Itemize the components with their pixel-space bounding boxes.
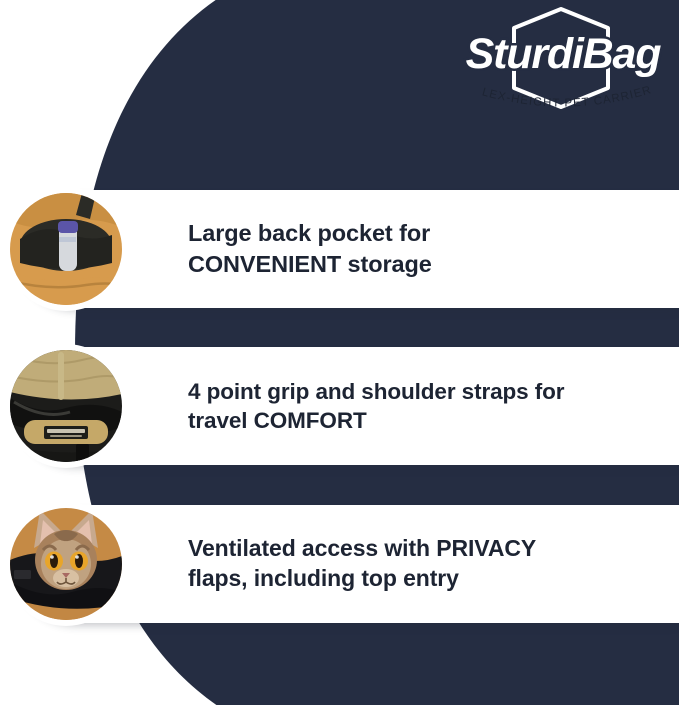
carrier-pocket-photo-icon xyxy=(10,193,122,305)
feature-card-straps: 4 point grip and shoulder straps for tra… xyxy=(16,347,679,465)
feature-image-straps xyxy=(10,350,122,462)
feature-thumbnail-wrapper xyxy=(4,344,128,468)
feature-text: Large back pocket for CONVENIENT storage xyxy=(188,218,440,279)
feature-text: 4 point grip and shoulder straps for tra… xyxy=(188,377,572,436)
feature-thumbnail-wrapper xyxy=(4,187,128,311)
feature-card-back-pocket: Large back pocket for CONVENIENT storage xyxy=(16,190,679,308)
feature-card-ventilation: Ventilated access with PRIVACY flaps, in… xyxy=(16,505,679,623)
cat-in-carrier-photo-icon xyxy=(10,508,122,620)
carrier-strap-photo-icon xyxy=(10,350,122,462)
feature-image-back-pocket xyxy=(10,193,122,305)
feature-text: Ventilated access with PRIVACY flaps, in… xyxy=(188,534,544,594)
feature-image-cat xyxy=(10,508,122,620)
feature-thumbnail-wrapper xyxy=(4,502,128,626)
